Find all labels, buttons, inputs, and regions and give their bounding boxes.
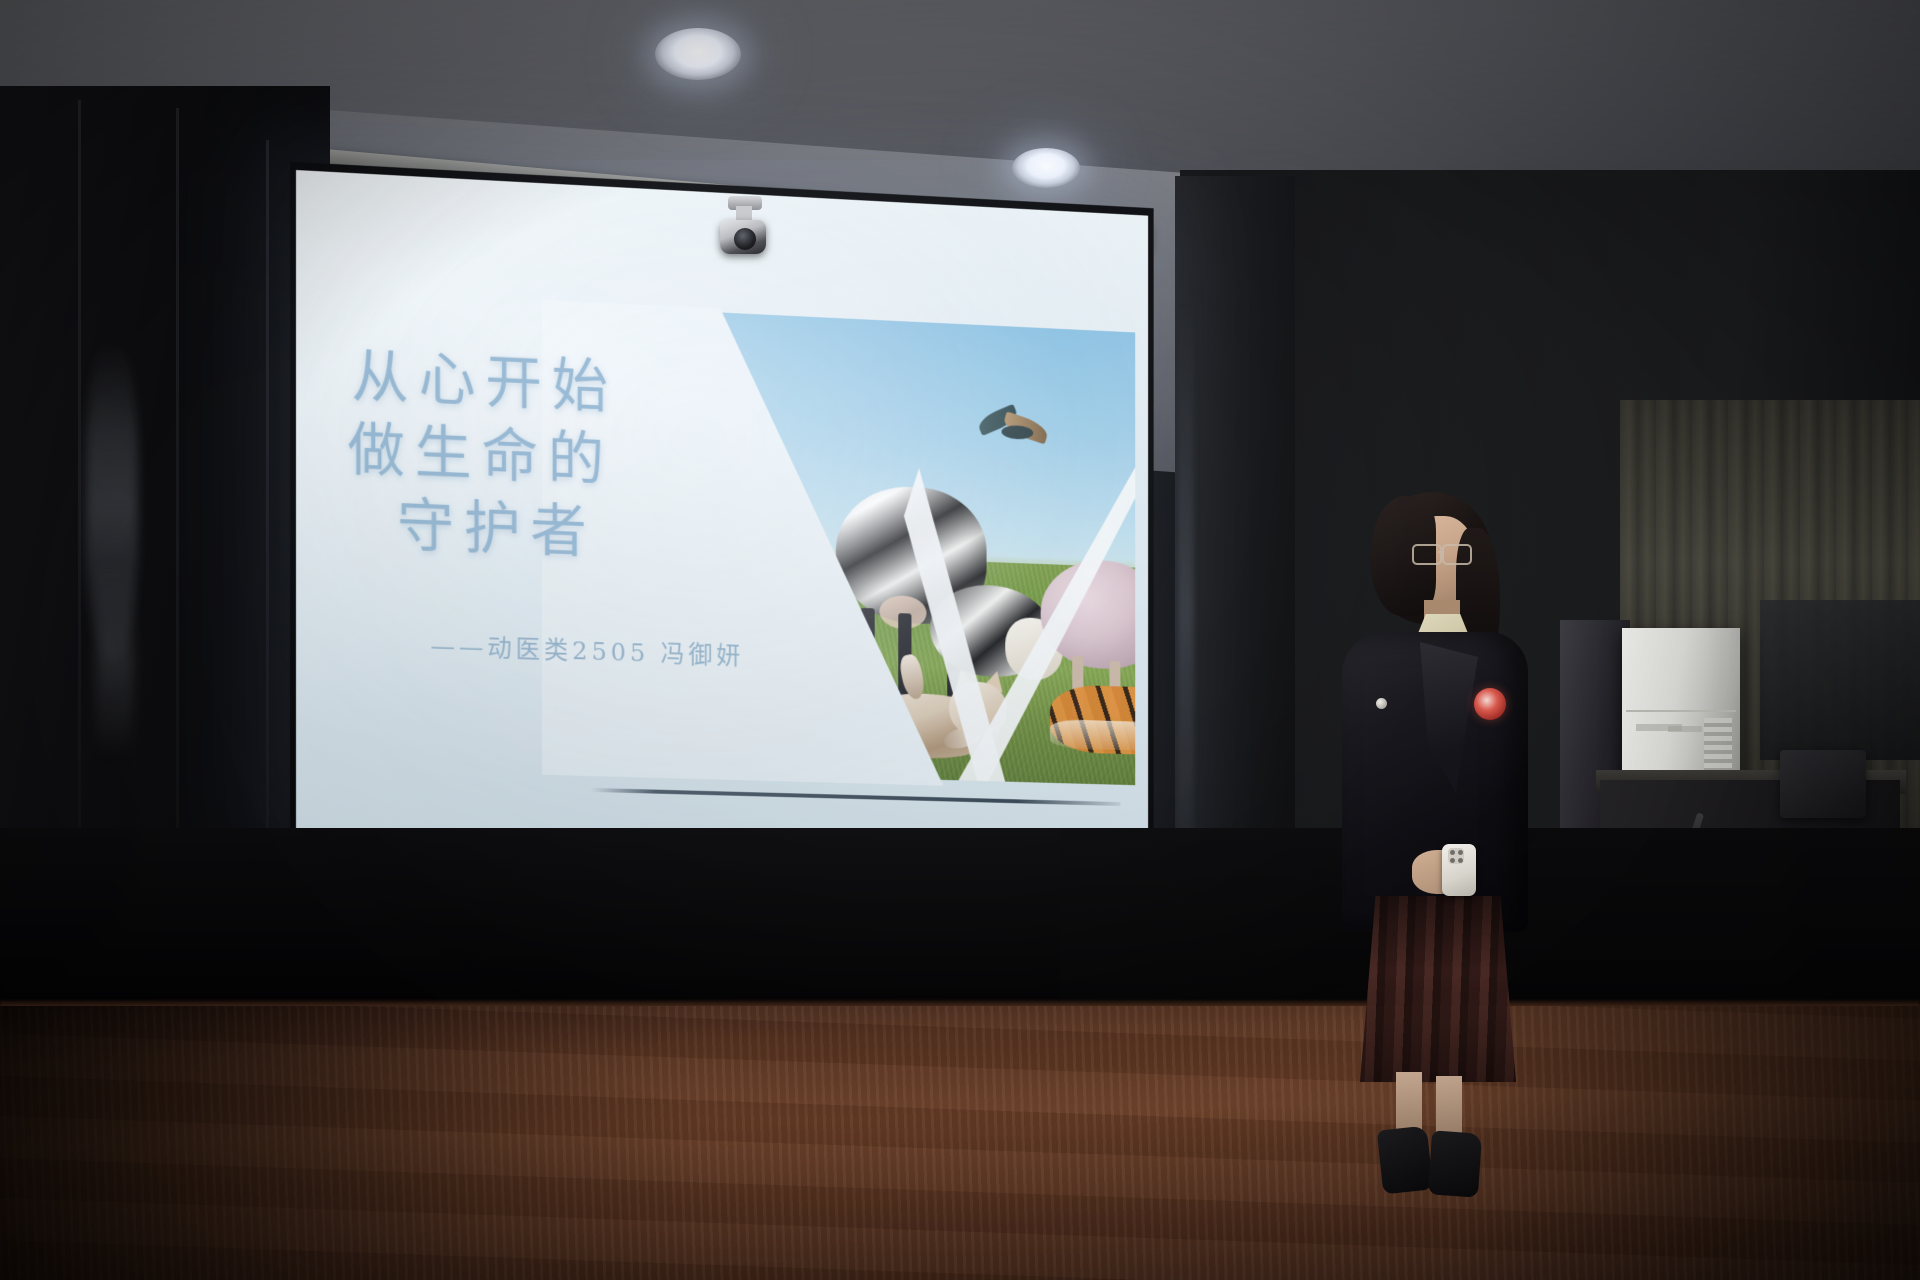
slide-photo xyxy=(693,311,1135,785)
presentation-slide: 从心开始 做生命的 守护者 ——动医类2505 冯御妍 xyxy=(296,170,1148,851)
phone-lens xyxy=(1450,858,1455,863)
desk-monitor xyxy=(1780,750,1866,818)
stage-shadow xyxy=(0,828,1060,1008)
presenter-boot xyxy=(1377,1126,1433,1195)
downlight-icon xyxy=(655,28,741,80)
coat-button xyxy=(1376,698,1387,709)
presenter xyxy=(1324,492,1564,1022)
pillar-highlight xyxy=(1178,300,1194,920)
glasses-icon xyxy=(1412,544,1442,565)
floor-shadow-right xyxy=(1450,1006,1920,1280)
slide-title-line-1: 从心开始 xyxy=(352,339,674,427)
ceiling-camera-icon xyxy=(706,196,780,258)
ac-panel-seam xyxy=(1626,710,1736,712)
downlight-icon xyxy=(1012,148,1080,188)
phone-lens xyxy=(1450,850,1455,855)
slide-title: 从心开始 做生命的 守护者 xyxy=(352,339,674,573)
phone-lens xyxy=(1458,858,1463,863)
skirt-shading xyxy=(1360,896,1516,1082)
bird-icon xyxy=(977,408,1046,456)
wall-reflection xyxy=(96,560,134,760)
ac-label xyxy=(1668,726,1702,732)
floor-shadow-left xyxy=(0,1006,700,1280)
slide-title-line-2: 做生命的 xyxy=(348,412,674,499)
glasses-bridge xyxy=(1438,551,1444,553)
dark-window xyxy=(1760,600,1920,760)
slide-divider-rule xyxy=(591,788,1121,806)
screenshot-root: 从心开始 做生命的 守护者 ——动医类2505 冯御妍 xyxy=(0,0,1920,1280)
phone-lens xyxy=(1458,850,1463,855)
flower-pin-icon xyxy=(1474,688,1506,720)
tiger-belly xyxy=(1050,719,1135,751)
slide-title-line-3: 守护者 xyxy=(397,488,674,572)
presenter-boot xyxy=(1428,1130,1482,1197)
glasses-icon xyxy=(1442,544,1472,565)
projection-screen[interactable]: 从心开始 做生命的 守护者 ——动医类2505 冯御妍 xyxy=(296,170,1148,851)
